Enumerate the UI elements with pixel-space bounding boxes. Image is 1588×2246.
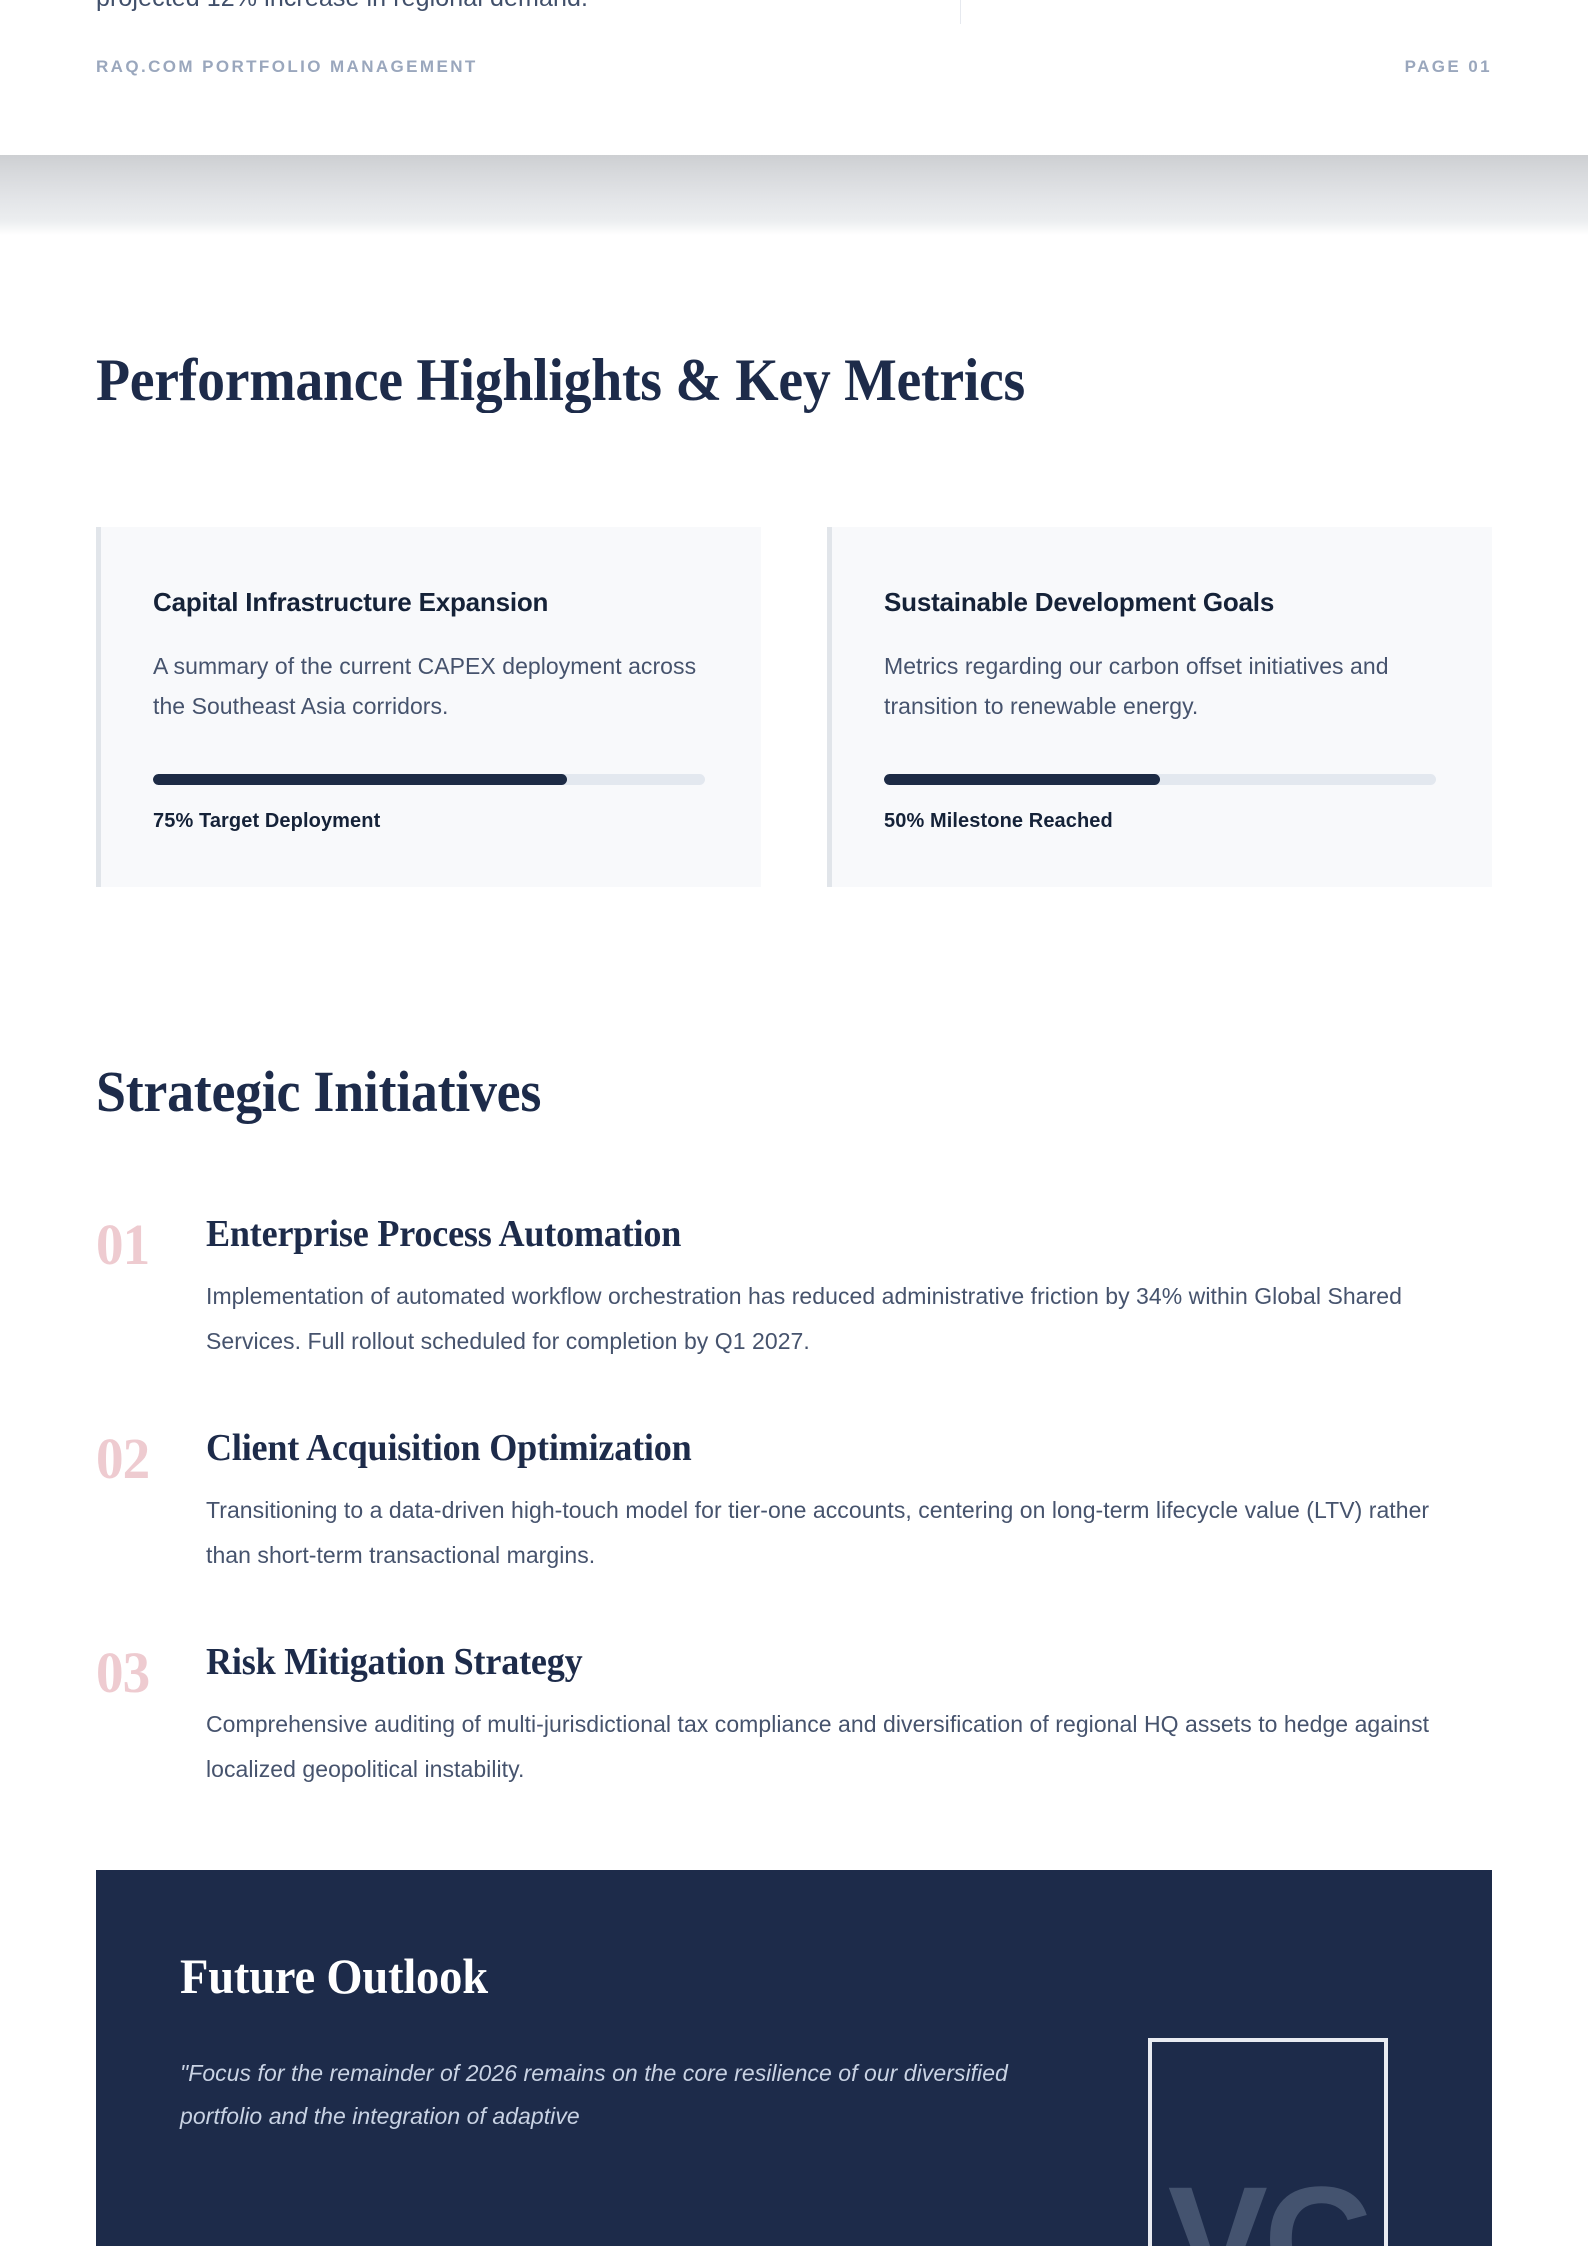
initiative-body: Client Acquisition Optimization Transiti… [206,1426,1492,1578]
metric-card-title: Capital Infrastructure Expansion [153,587,705,618]
initiative-item: 03 Risk Mitigation Strategy Comprehensiv… [96,1640,1492,1792]
initiatives-section-title: Strategic Initiatives [96,1060,541,1124]
future-outlook-quote: "Focus for the remainder of 2026 remains… [180,2052,1060,2138]
progress-caption: 50% Milestone Reached [884,810,1436,833]
metric-card: Sustainable Development Goals Metrics re… [827,527,1492,887]
initiative-title: Enterprise Process Automation [206,1212,1428,1256]
future-outlook-panel: Future Outlook "Focus for the remainder … [96,1870,1492,2246]
initiative-description: Implementation of automated workflow orc… [206,1274,1446,1364]
progress-bar-track [153,774,705,785]
brand-monogram-icon: VC [1168,2174,1368,2246]
metric-card: Capital Infrastructure Expansion A summa… [96,527,761,887]
document-viewport: projected 12% increase in regional deman… [0,0,1588,2246]
future-outlook-title: Future Outlook [180,1948,998,2004]
footer-page-number: PAGE 01 [1405,57,1492,77]
page-two: Performance Highlights & Key Metrics Cap… [0,235,1588,2246]
initiative-item: 01 Enterprise Process Automation Impleme… [96,1212,1492,1364]
initiative-number: 02 [96,1426,201,1488]
metrics-section-title: Performance Highlights & Key Metrics [96,347,1025,413]
metric-card-title: Sustainable Development Goals [884,587,1436,618]
initiative-body: Risk Mitigation Strategy Comprehensive a… [206,1640,1492,1792]
initiative-number: 01 [96,1212,201,1274]
initiative-item: 02 Client Acquisition Optimization Trans… [96,1426,1492,1578]
progress-bar-fill [153,774,567,785]
page-break-gutter [0,155,1588,235]
initiative-number: 03 [96,1640,201,1702]
initiative-title: Risk Mitigation Strategy [206,1640,1428,1684]
initiative-description: Transitioning to a data-driven high-touc… [206,1488,1446,1578]
future-outlook-inner: Future Outlook "Focus for the remainder … [180,1948,1408,2246]
metric-card-description: Metrics regarding our carbon offset init… [884,646,1436,726]
progress-bar-fill [884,774,1160,785]
initiative-body: Enterprise Process Automation Implementa… [206,1212,1492,1364]
page-one-tail: projected 12% increase in regional deman… [0,0,1588,155]
progress-bar-track [884,774,1436,785]
initiative-title: Client Acquisition Optimization [206,1426,1428,1470]
page-footer: RAQ.COM PORTFOLIO MANAGEMENT PAGE 01 [96,57,1492,77]
brand-mark-frame: VC [1148,2038,1388,2246]
column-divider-rule [960,0,961,24]
progress-caption: 75% Target Deployment [153,810,705,833]
page-one-body-text: projected 12% increase in regional deman… [96,0,976,21]
future-outlook-text-block: Future Outlook "Focus for the remainder … [180,1948,1060,2138]
metric-card-description: A summary of the current CAPEX deploymen… [153,646,705,726]
initiative-description: Comprehensive auditing of multi-jurisdic… [206,1702,1446,1792]
metric-card-group: Capital Infrastructure Expansion A summa… [96,527,1492,887]
initiative-list: 01 Enterprise Process Automation Impleme… [96,1212,1492,1792]
footer-brand-label: RAQ.COM PORTFOLIO MANAGEMENT [96,57,478,77]
